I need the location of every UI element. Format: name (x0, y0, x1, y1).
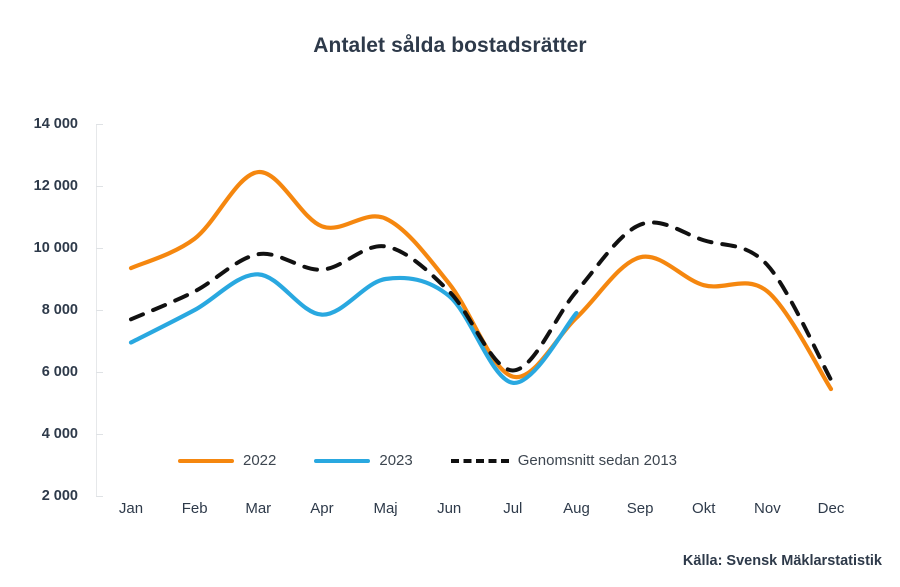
legend-label: 2023 (379, 452, 412, 469)
legend-label: Genomsnitt sedan 2013 (518, 452, 677, 469)
legend-item[interactable]: 2022 (178, 452, 276, 469)
chart-series-layer (0, 0, 900, 587)
legend-item[interactable]: Genomsnitt sedan 2013 (451, 452, 677, 469)
legend-swatch-icon (178, 459, 234, 463)
chart-legend: 20222023Genomsnitt sedan 2013 (178, 452, 715, 469)
series-line (131, 222, 831, 379)
legend-swatch-icon (451, 459, 509, 463)
legend-item[interactable]: 2023 (314, 452, 412, 469)
legend-label: 2022 (243, 452, 276, 469)
legend-swatch-icon (314, 459, 370, 463)
chart-container: Antalet sålda bostadsrätter 14 00012 000… (0, 0, 900, 587)
source-note: Källa: Svensk Mäklarstatistik (683, 553, 882, 569)
